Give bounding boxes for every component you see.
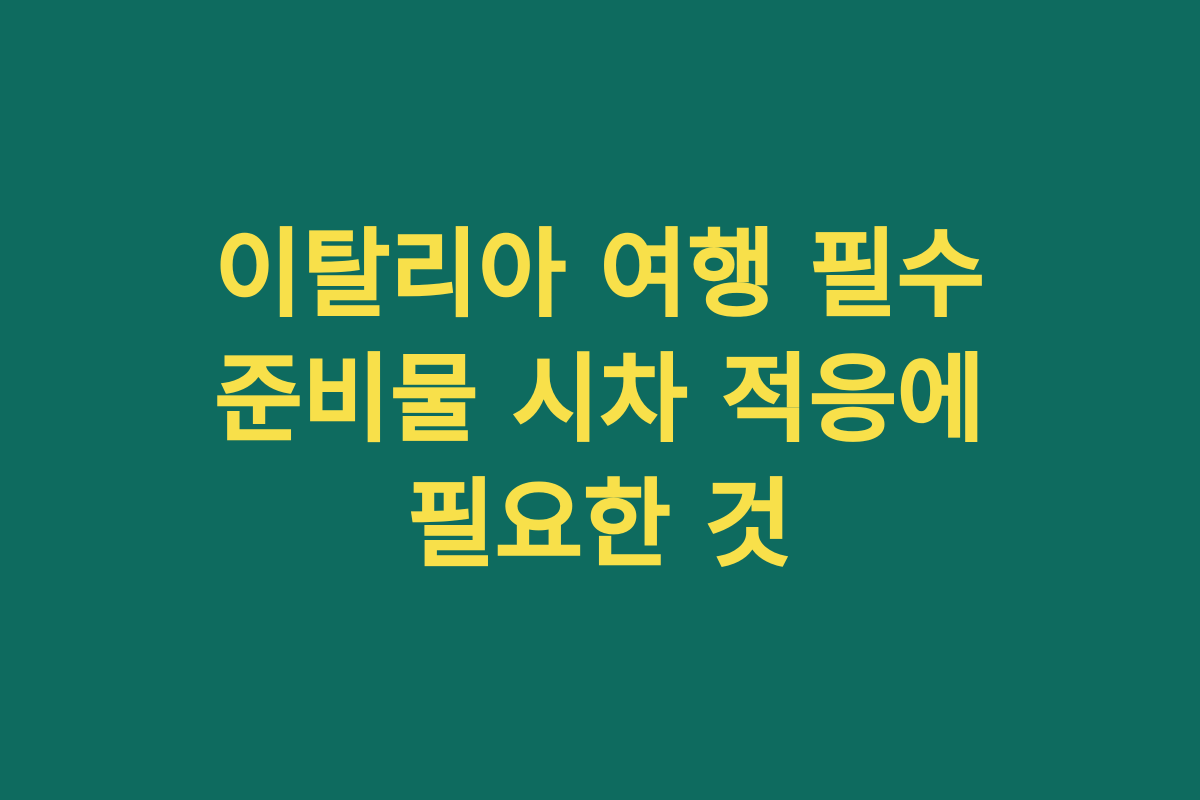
page-title: 이탈리아 여행 필수 준비물 시차 적응에 필요한 것 xyxy=(70,213,1130,588)
title-card: 이탈리아 여행 필수 준비물 시차 적응에 필요한 것 xyxy=(0,0,1200,800)
